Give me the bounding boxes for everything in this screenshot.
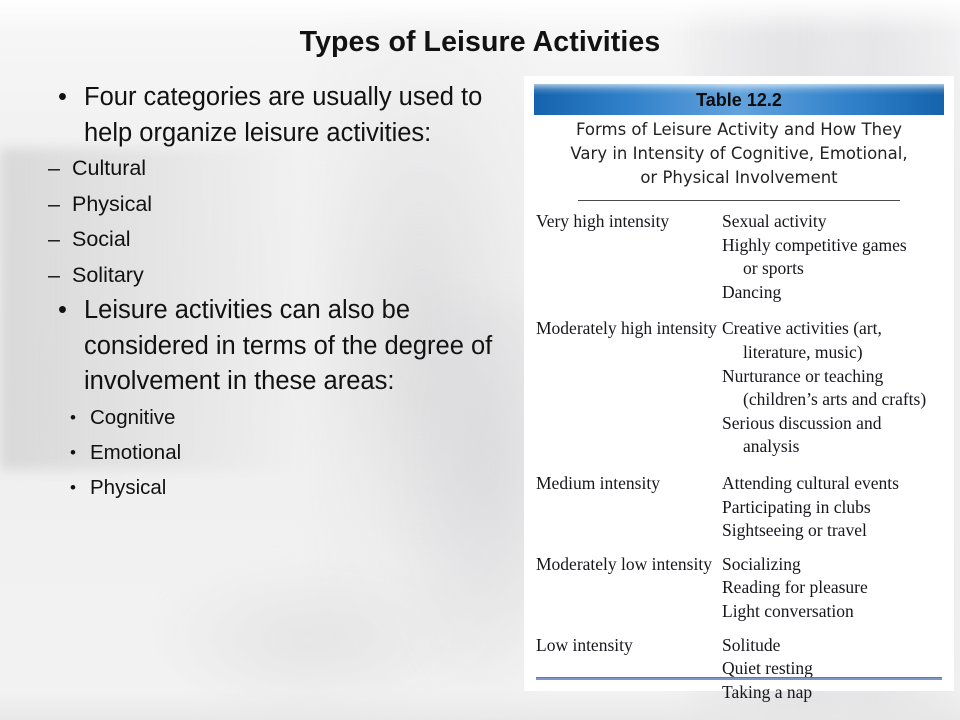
sub-bullet-label: Physical [72,192,152,216]
bullet-list-level2-a: – Cultural – Physical – Social – Solitar… [34,151,534,293]
table-cell-item: Dancing [722,281,954,305]
table-cell-item: Sexual activity [722,210,954,234]
table-number-label: Table 12.2 [534,90,944,111]
sub-bullet-solitary: – Solitary [34,258,534,294]
sub-bullet-physical: • Physical [34,470,534,505]
table-body: Very high intensity Sexual activity High… [524,210,954,704]
table-cell-item: Serious discussion and [722,412,954,436]
bullet-dot-icon: • [58,80,67,116]
bullet-text-2: Leisure activities can also be considere… [84,296,492,395]
dash-icon: – [48,151,60,187]
table-row-items: Socializing Reading for pleasure Light c… [722,553,954,624]
table-cell-item: Reading for pleasure [722,576,954,600]
sub-bullet-label: Cultural [72,156,146,180]
bullet-item-2: • Leisure activities can also be conside… [34,293,534,400]
row-spacer [524,543,954,553]
table-bottom-rule [536,677,942,680]
bullet-dot-icon: • [58,293,67,329]
table-cell-item-continuation: literature, music) [722,341,954,365]
row-spacer [524,624,954,634]
table-cell-item: Taking a nap [722,681,954,705]
table-row: Moderately high intensity Creative activ… [524,317,954,459]
dash-icon: – [48,187,60,223]
table-row-items: Sexual activity Highly competitive games… [722,210,954,304]
caption-line-1: Forms of Leisure Activity and How They [542,118,936,142]
table-cell-item: Solitude [722,634,954,658]
slide-canvas: Types of Leisure Activities • Four categ… [0,0,960,720]
dash-icon: – [48,258,60,294]
caption-line-2: Vary in Intensity of Cognitive, Emotiona… [542,142,936,166]
sub-bullet-social: – Social [34,222,534,258]
table-row: Very high intensity Sexual activity High… [524,210,954,304]
body-content: • Four categories are usually used to he… [34,80,534,505]
bullet-dot-icon: • [70,435,76,470]
table-cell-item: Participating in clubs [722,496,954,520]
table-row-category: Moderately high intensity [524,317,722,459]
bullet-list-level1: • Four categories are usually used to he… [34,80,534,505]
background-texture-bottom [150,560,470,720]
sub-bullet-physical: – Physical [34,187,534,223]
table-row-category: Very high intensity [524,210,722,304]
caption-line-3: or Physical Involvement [542,166,936,190]
sub-bullet-emotional: • Emotional [34,435,534,470]
table-row: Medium intensity Attending cultural even… [524,472,954,543]
table-header-bar: Table 12.2 [534,84,944,115]
sub-bullet-label: Solitary [72,263,144,287]
table-cell-item: Sightseeing or travel [722,519,954,543]
sub-bullet-label: Cognitive [90,406,175,429]
table-caption: Forms of Leisure Activity and How They V… [542,118,936,190]
sub-bullet-cognitive: • Cognitive [34,400,534,435]
sub-bullet-cultural: – Cultural [34,151,534,187]
bullet-dot-icon: • [70,400,76,435]
row-spacer [524,304,954,317]
bullet-text-1: Four categories are usually used to help… [84,83,482,147]
bullet-item-1: • Four categories are usually used to he… [34,80,534,151]
bullet-list-level3: • Cognitive • Emotional • Physical [34,400,534,505]
sub-bullet-label: Social [72,227,131,251]
sub-bullet-label: Physical [90,476,166,499]
table-row: Low intensity Solitude Quiet resting Tak… [524,634,954,705]
table-cell-item-continuation: (children’s arts and crafts) [722,388,954,412]
table-cell-item: Attending cultural events [722,472,954,496]
table-cell-item: Creative activities (art, [722,317,954,341]
table-cell-item: Nurturance or teaching [722,365,954,389]
bullet-dot-icon: • [70,470,76,505]
sub-bullet-label: Emotional [90,441,181,464]
caption-divider [578,200,900,201]
table-figure-panel: Table 12.2 Forms of Leisure Activity and… [524,76,954,691]
table-cell-item: Highly competitive games [722,234,954,258]
row-spacer [524,459,954,472]
table-row-category: Low intensity [524,634,722,705]
table-cell-item-continuation: or sports [722,257,954,281]
dash-icon: – [48,222,60,258]
slide-title: Types of Leisure Activities [0,26,960,59]
table-row-category: Medium intensity [524,472,722,543]
table-row: Moderately low intensity Socializing Rea… [524,553,954,624]
table-row-category: Moderately low intensity [524,553,722,624]
table-cell-item: Socializing [722,553,954,577]
table-row-items: Attending cultural events Participating … [722,472,954,543]
table-row-items: Creative activities (art, literature, mu… [722,317,954,459]
table-cell-item: Light conversation [722,600,954,624]
table-cell-item-continuation: analysis [722,435,954,459]
table-row-items: Solitude Quiet resting Taking a nap [722,634,954,705]
